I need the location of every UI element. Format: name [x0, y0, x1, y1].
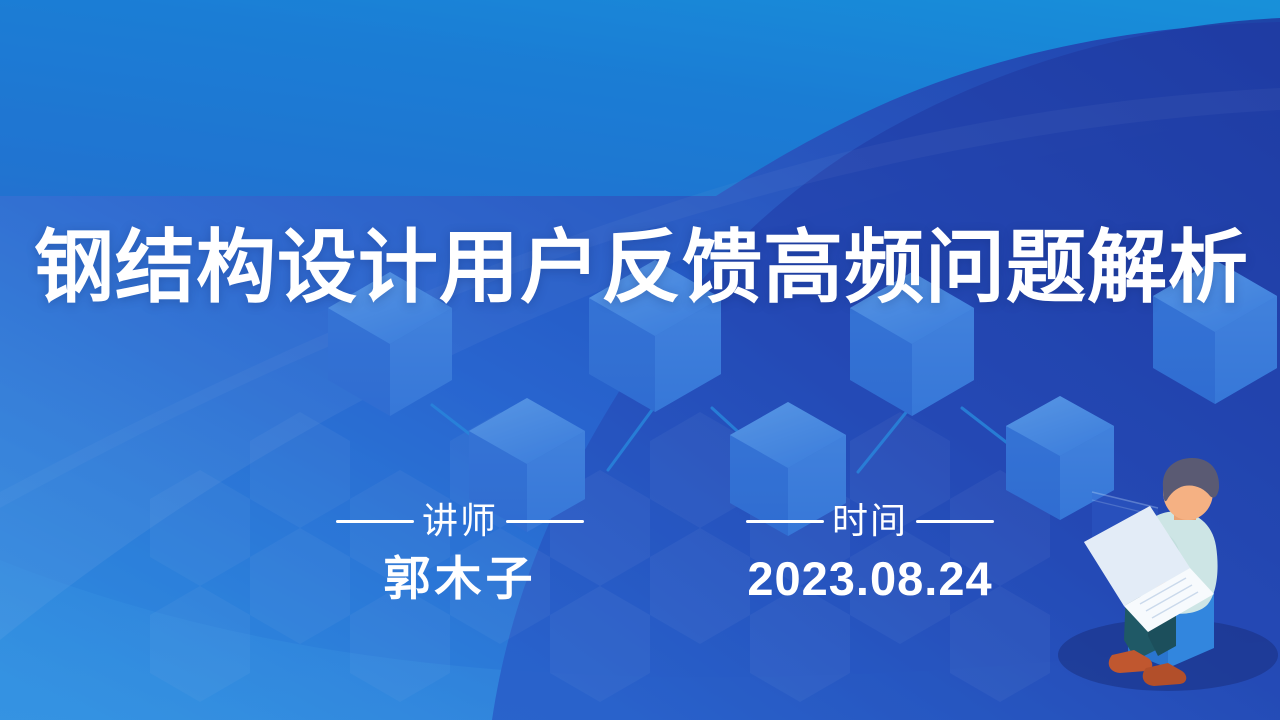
- date-rule-left: [746, 520, 824, 523]
- date-heading: 时间: [675, 498, 1065, 544]
- date-value: 2023.08.24: [675, 552, 1065, 606]
- date-rule-right: [916, 520, 994, 523]
- speaker-heading: 讲师: [245, 498, 675, 544]
- date-block: 时间 2023.08.24: [675, 498, 1065, 606]
- speaker-label: 讲师: [422, 501, 498, 541]
- page-title: 钢结构设计用户反馈高频问题解析: [34, 222, 1254, 314]
- speaker-rule-right: [506, 520, 584, 523]
- presentation-title-slide: 钢结构设计用户反馈高频问题解析 讲师 郭木子 时间 2023.08.24: [0, 0, 1280, 720]
- person-head: [1163, 458, 1219, 520]
- speaker-name: 郭木子: [245, 552, 675, 606]
- speaker-block: 讲师 郭木子: [245, 498, 675, 606]
- date-label: 时间: [832, 501, 908, 541]
- speaker-rule-left: [336, 520, 414, 523]
- person-with-laptop-illustration: [0, 0, 1280, 720]
